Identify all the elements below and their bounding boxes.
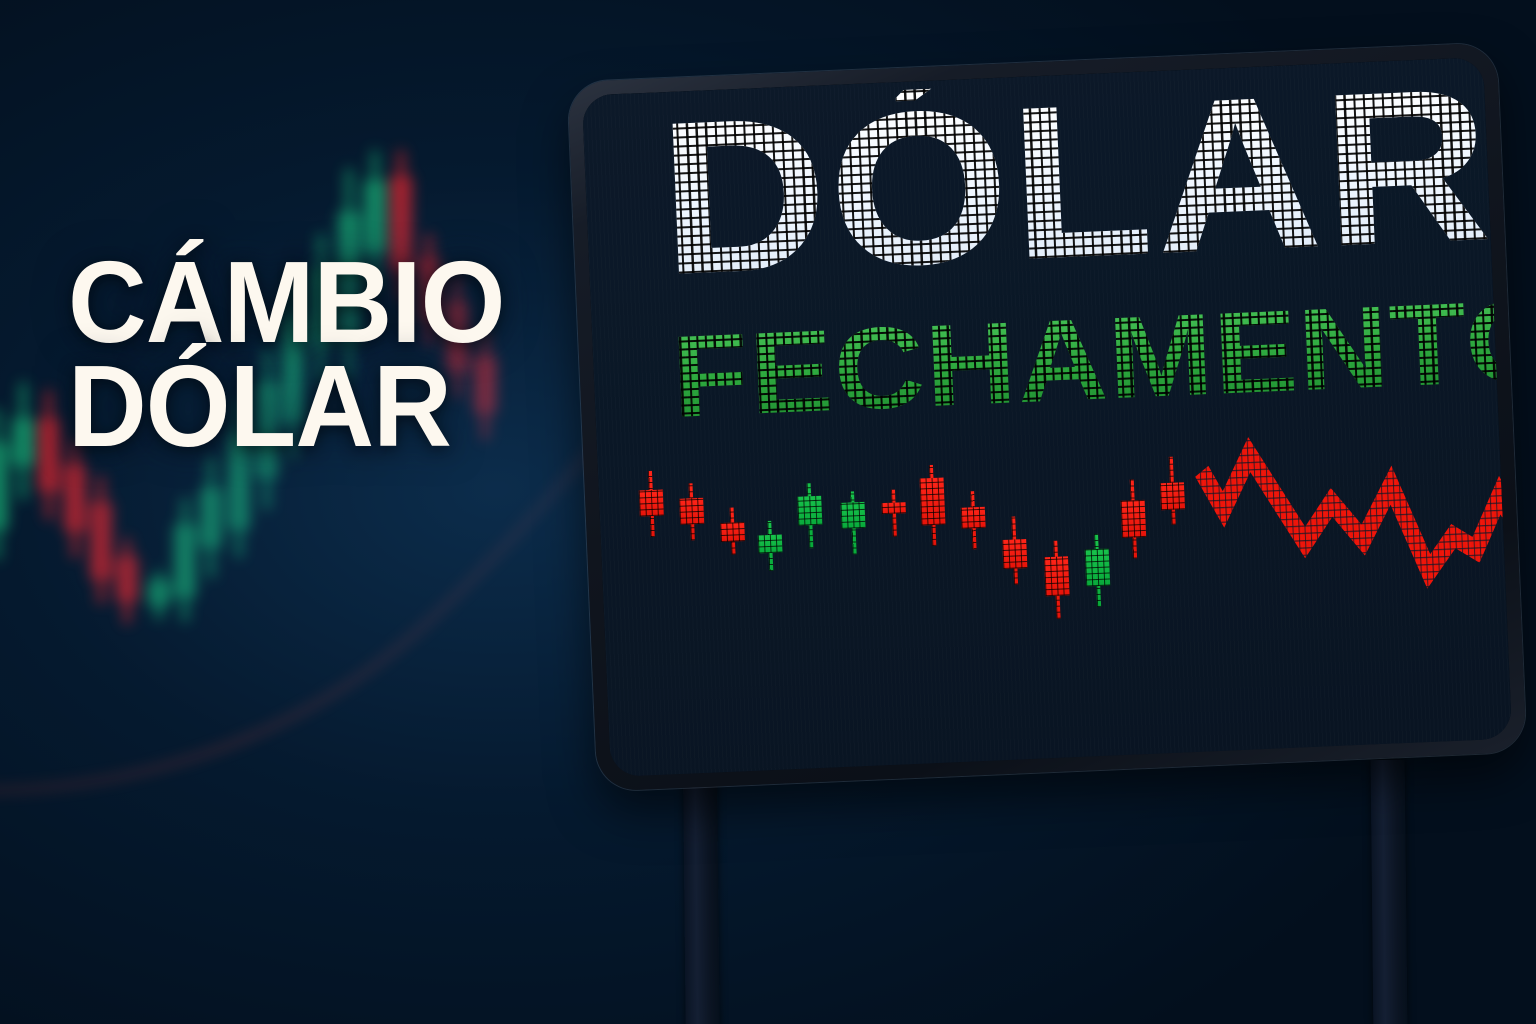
billboard-bezel: DÓLAR FECHAMENTO (582, 57, 1512, 777)
billboard-post-right (1371, 760, 1408, 1024)
screenshot-canvas: CÁMBIO DÓLAR DÓLAR FECHAMENTO (0, 0, 1536, 1024)
headline-line-1: CÁMBIO (68, 250, 505, 354)
led-screen: DÓLAR FECHAMENTO (582, 57, 1512, 777)
page-title: CÁMBIO DÓLAR (68, 250, 568, 459)
billboard-frame: DÓLAR FECHAMENTO (567, 42, 1527, 791)
billboard: DÓLAR FECHAMENTO (567, 42, 1527, 791)
headline-line-2: DÓLAR (68, 354, 538, 458)
led-trend-line (582, 57, 1512, 777)
